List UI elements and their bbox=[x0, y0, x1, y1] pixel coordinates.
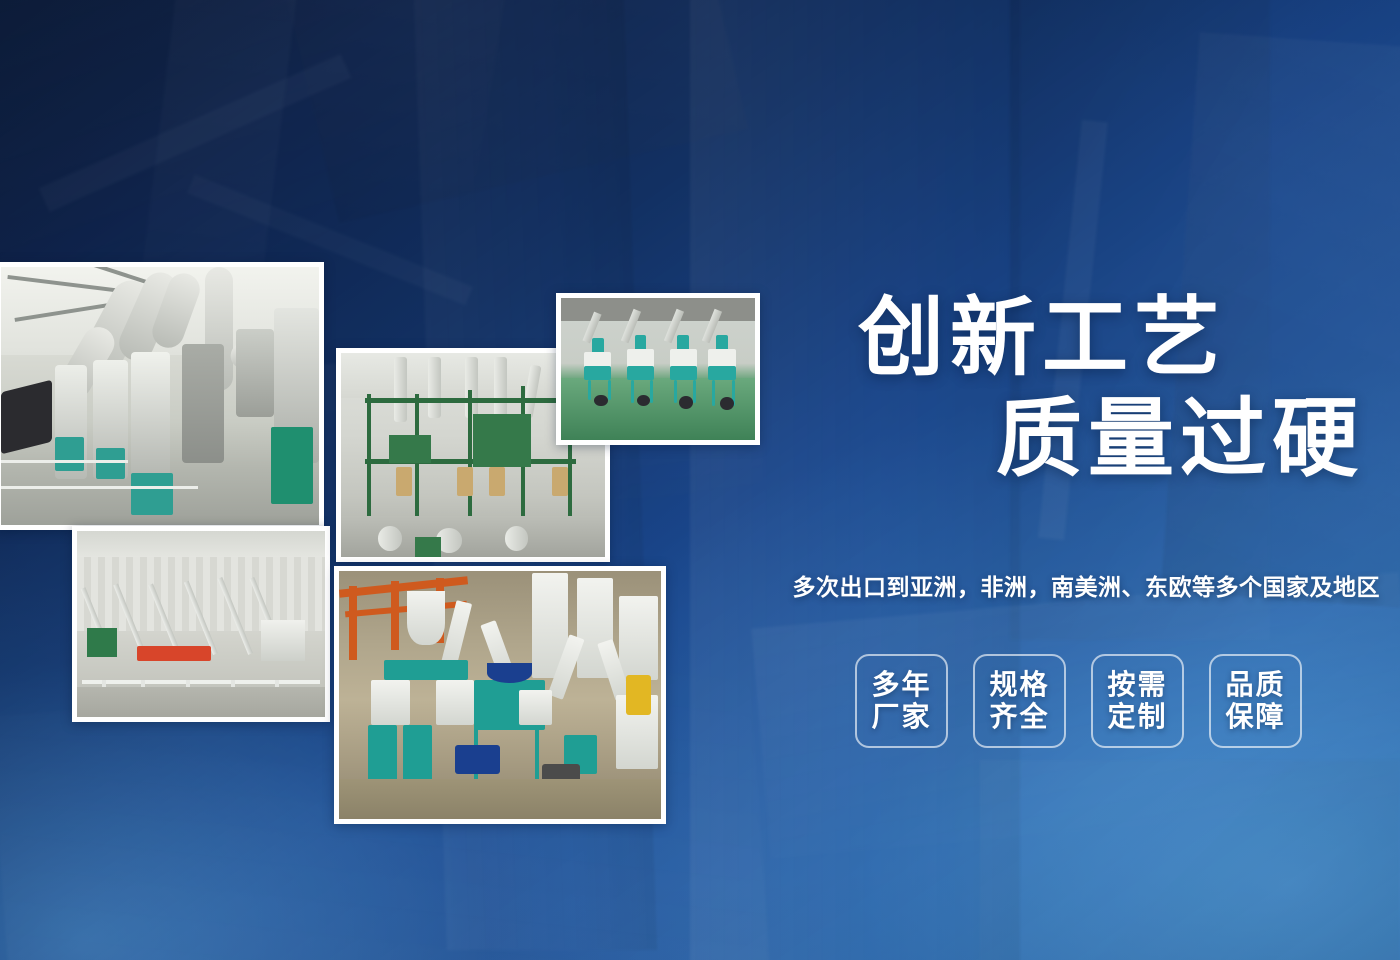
headline: 创新工艺 质量过硬 bbox=[764, 292, 1364, 486]
photo-frame-inner bbox=[561, 298, 755, 440]
badge-text-bottom: 齐全 bbox=[989, 701, 1049, 733]
photo-factory-line-white bbox=[72, 526, 330, 722]
photo-frame-inner bbox=[1, 267, 319, 525]
photo-content bbox=[561, 298, 755, 440]
photo-frame-inner bbox=[77, 531, 325, 717]
photo-content bbox=[77, 531, 325, 717]
photo-frame-inner bbox=[339, 571, 661, 819]
subtitle: 多次出口到亚洲，非洲，南美洲、东欧等多个国家及地区 bbox=[680, 568, 1380, 602]
headline-line-1: 创新工艺 bbox=[764, 292, 1226, 385]
banner-stage: 创新工艺 质量过硬 多次出口到亚洲，非洲，南美洲、东欧等多个国家及地区 多年 厂… bbox=[0, 0, 1400, 960]
photo-milling-line-white bbox=[0, 262, 324, 530]
badge-text-bottom: 保障 bbox=[1225, 701, 1285, 733]
photo-content bbox=[1, 267, 319, 525]
badge-quality-guarantee[interactable]: 品质 保障 bbox=[1209, 654, 1302, 748]
feature-badges: 多年 厂家 规格 齐全 按需 定制 品质 保障 bbox=[855, 654, 1302, 748]
photo-teal-mills-green-floor bbox=[556, 293, 760, 445]
badge-text-bottom: 定制 bbox=[1107, 701, 1167, 733]
badge-years-manufacturer[interactable]: 多年 厂家 bbox=[855, 654, 948, 748]
badge-text-top: 规格 bbox=[989, 669, 1049, 701]
badge-text-bottom: 厂家 bbox=[871, 701, 931, 733]
badge-full-specifications[interactable]: 规格 齐全 bbox=[973, 654, 1066, 748]
headline-line-2: 质量过硬 bbox=[764, 393, 1364, 486]
badge-custom-made[interactable]: 按需 定制 bbox=[1091, 654, 1184, 748]
badge-text-top: 多年 bbox=[871, 669, 931, 701]
photo-large-teal-mill bbox=[334, 566, 666, 824]
photo-content bbox=[339, 571, 661, 819]
badge-text-top: 品质 bbox=[1225, 669, 1285, 701]
badge-text-top: 按需 bbox=[1107, 669, 1167, 701]
